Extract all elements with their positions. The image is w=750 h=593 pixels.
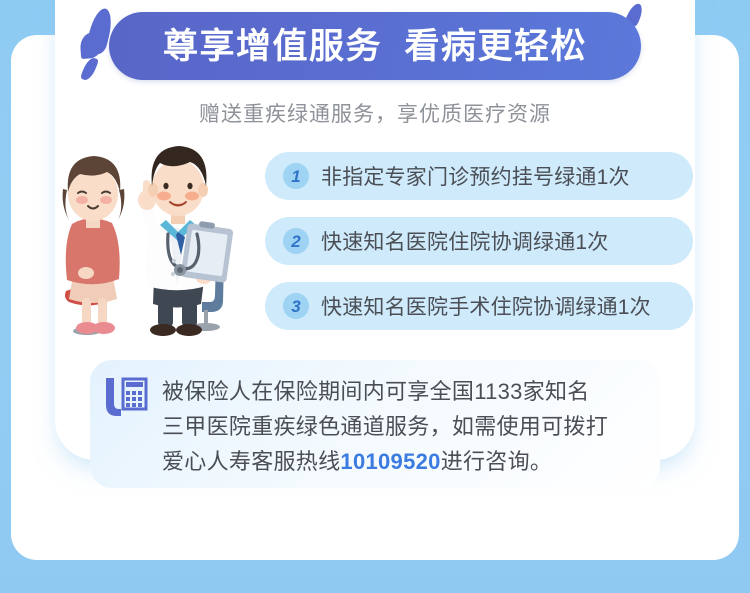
note-line-1: 被保险人在保险期间内可享全国1133家知名: [162, 374, 608, 409]
benefit-label: 非指定专家门诊预约挂号绿通1次: [321, 161, 630, 191]
benefit-item-2[interactable]: 2 快速知名医院住院协调绿通1次: [265, 217, 693, 265]
benefit-item-3[interactable]: 3 快速知名医院手术住院协调绿通1次: [265, 282, 693, 330]
benefits-list: 1 非指定专家门诊预约挂号绿通1次 2 快速知名医院住院协调绿通1次 3 快速知…: [265, 152, 693, 347]
promo-page: 尊享增值服务 看病更轻松 赠送重疾绿通服务，享优质医疗资源: [0, 0, 750, 593]
banner-title: 尊享增值服务 看病更轻松: [163, 29, 587, 64]
title-banner: 尊享增值服务 看病更轻松: [109, 12, 641, 80]
note-line-3-suffix: 进行咨询。: [441, 449, 553, 474]
telephone-icon: [98, 370, 152, 424]
note-line-3: 爱心人寿客服热线10109520进行咨询。: [162, 444, 608, 479]
benefit-number-badge: 2: [283, 228, 309, 254]
page-subtitle: 赠送重疾绿通服务，享优质医疗资源: [0, 98, 750, 128]
benefit-label: 快速知名医院住院协调绿通1次: [321, 226, 608, 256]
note-line-2: 三甲医院重疾绿色通道服务，如需使用可拨打: [162, 409, 608, 444]
benefit-number-badge: 3: [283, 293, 309, 319]
note-line-3-prefix: 爱心人寿客服热线: [162, 449, 340, 474]
hotline-note-box: 被保险人在保险期间内可享全国1133家知名 三甲医院重疾绿色通道服务，如需使用可…: [90, 360, 660, 488]
hotline-number[interactable]: 10109520: [340, 449, 440, 474]
benefit-number-badge: 1: [283, 163, 309, 189]
benefit-label: 快速知名医院手术住院协调绿通1次: [321, 291, 651, 321]
doctor-patient-illustration: [58, 128, 268, 350]
hotline-note-text: 被保险人在保险期间内可享全国1133家知名 三甲医院重疾绿色通道服务，如需使用可…: [162, 374, 608, 479]
benefit-item-1[interactable]: 1 非指定专家门诊预约挂号绿通1次: [265, 152, 693, 200]
